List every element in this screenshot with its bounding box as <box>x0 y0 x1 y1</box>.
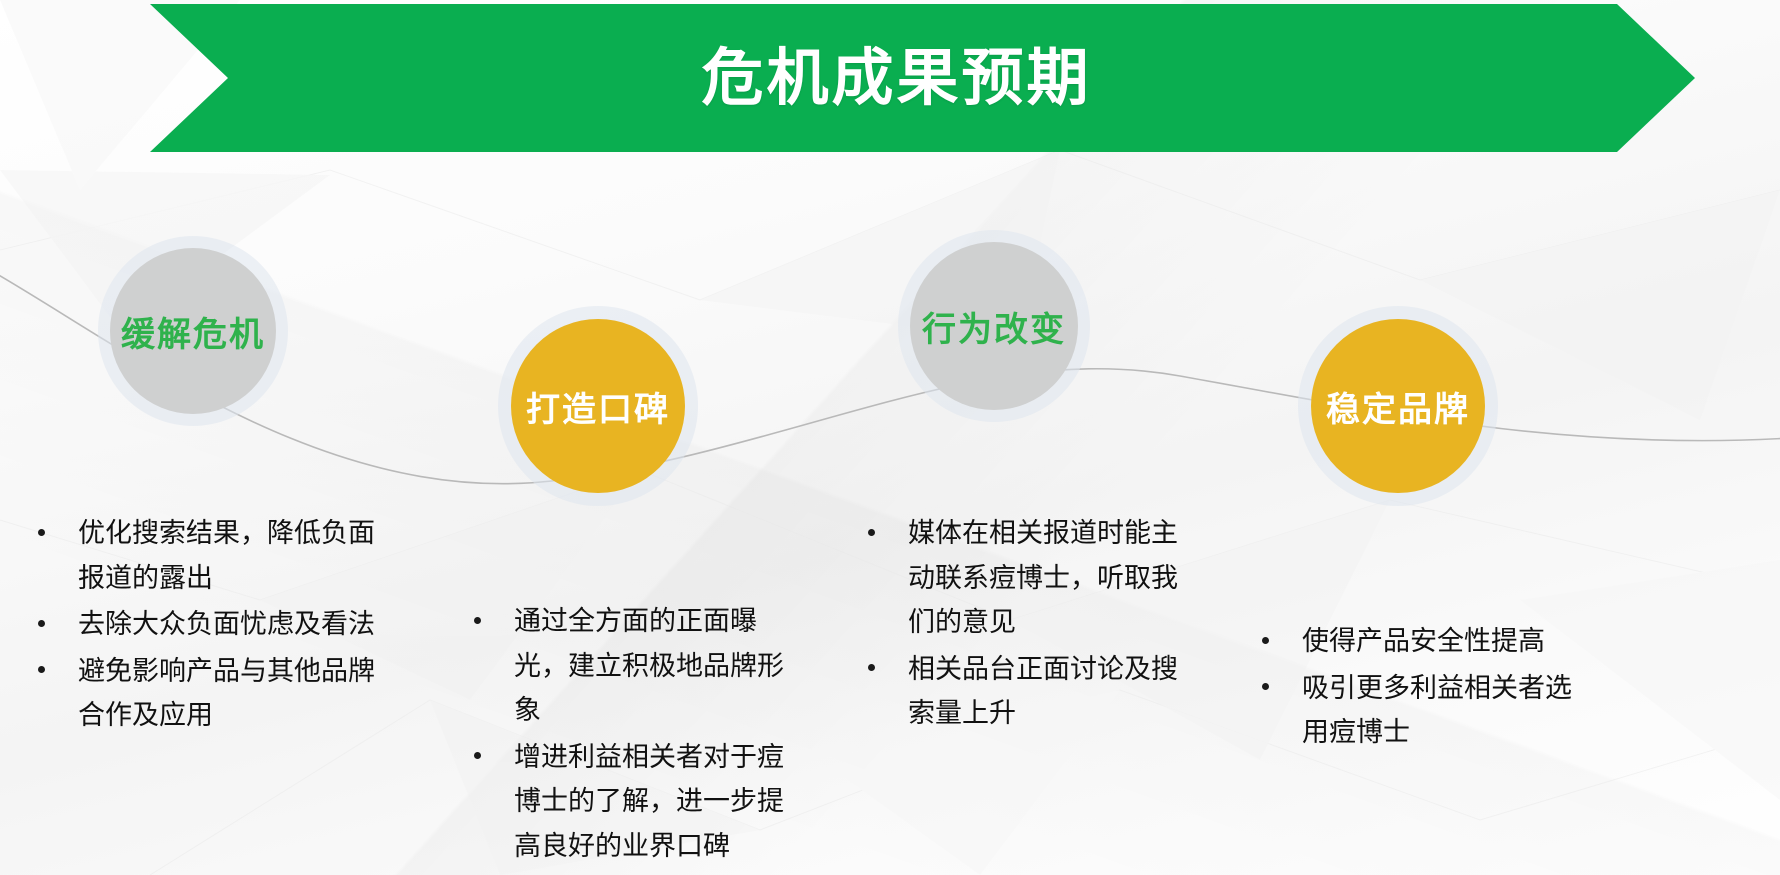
node-2-label: 打造口碑 <box>526 382 670 431</box>
title-banner: 危机成果预期 <box>150 4 1695 152</box>
column-3: 媒体在相关报道时能主动联系痘博士，听取我们的意见 相关品台正面讨论及搜索量上升 <box>852 512 1202 739</box>
bullet-text: 相关品台正面讨论及搜索量上升 <box>908 654 1178 730</box>
column-1: 优化搜索结果，降低负面报道的露出 去除大众负面忧虑及看法 避免影响产品与其他品牌… <box>22 512 382 741</box>
slide-canvas: 危机成果预期 缓解危机 打造口碑 行为改变 稳定品牌 <box>0 0 1780 875</box>
bullet-dot-icon <box>1262 683 1269 690</box>
bullet-dot-icon <box>1262 637 1269 644</box>
bullet-text: 优化搜索结果，降低负面报道的露出 <box>78 518 375 594</box>
column-4: 使得产品安全性提高 吸引更多利益相关者选用痘博士 <box>1246 620 1576 758</box>
column-2-bullets: 通过全方面的正面曝光，建立积极地品牌形象 增进利益相关者对于痘博士的了解，进一步… <box>458 600 798 869</box>
list-item: 优化搜索结果，降低负面报道的露出 <box>22 512 382 601</box>
bullet-dot-icon <box>38 620 45 627</box>
bullet-dot-icon <box>868 529 875 536</box>
list-item: 媒体在相关报道时能主动联系痘博士，听取我们的意见 <box>852 512 1202 646</box>
node-3-label: 行为改变 <box>922 302 1066 351</box>
node-4[interactable]: 稳定品牌 <box>1298 306 1498 506</box>
list-item: 吸引更多利益相关者选用痘博士 <box>1246 667 1576 756</box>
node-4-label: 稳定品牌 <box>1326 382 1470 431</box>
bullet-text: 媒体在相关报道时能主动联系痘博士，听取我们的意见 <box>908 518 1178 638</box>
bullet-text: 通过全方面的正面曝光，建立积极地品牌形象 <box>514 606 784 726</box>
bullet-dot-icon <box>474 617 481 624</box>
bullet-text: 吸引更多利益相关者选用痘博士 <box>1302 673 1572 749</box>
column-4-bullets: 使得产品安全性提高 吸引更多利益相关者选用痘博士 <box>1246 620 1576 756</box>
bullet-text: 增进利益相关者对于痘博士的了解，进一步提高良好的业界口碑 <box>514 742 784 862</box>
column-1-bullets: 优化搜索结果，降低负面报道的露出 去除大众负面忧虑及看法 避免影响产品与其他品牌… <box>22 512 382 739</box>
list-item: 通过全方面的正面曝光，建立积极地品牌形象 <box>458 600 798 734</box>
list-item: 增进利益相关者对于痘博士的了解，进一步提高良好的业界口碑 <box>458 736 798 870</box>
node-1-disc[interactable]: 缓解危机 <box>110 248 276 414</box>
node-2[interactable]: 打造口碑 <box>498 306 698 506</box>
bullet-text: 去除大众负面忧虑及看法 <box>78 609 375 640</box>
bullet-dot-icon <box>868 664 875 671</box>
node-3[interactable]: 行为改变 <box>898 230 1090 422</box>
node-1[interactable]: 缓解危机 <box>98 236 288 426</box>
list-item: 避免影响产品与其他品牌合作及应用 <box>22 650 382 739</box>
node-3-disc[interactable]: 行为改变 <box>910 242 1078 410</box>
page-title: 危机成果预期 <box>701 47 1091 109</box>
bullet-text: 使得产品安全性提高 <box>1302 626 1545 657</box>
bullet-text: 避免影响产品与其他品牌合作及应用 <box>78 656 375 732</box>
list-item: 去除大众负面忧虑及看法 <box>22 603 382 648</box>
list-item: 使得产品安全性提高 <box>1246 620 1576 665</box>
bullet-dot-icon <box>474 752 481 759</box>
bullet-dot-icon <box>38 529 45 536</box>
node-1-label: 缓解危机 <box>121 307 265 356</box>
column-3-bullets: 媒体在相关报道时能主动联系痘博士，听取我们的意见 相关品台正面讨论及搜索量上升 <box>852 512 1202 737</box>
node-4-disc[interactable]: 稳定品牌 <box>1311 319 1485 493</box>
bullet-dot-icon <box>38 666 45 673</box>
list-item: 相关品台正面讨论及搜索量上升 <box>852 648 1202 737</box>
node-2-disc[interactable]: 打造口碑 <box>511 319 685 493</box>
column-2: 通过全方面的正面曝光，建立积极地品牌形象 增进利益相关者对于痘博士的了解，进一步… <box>458 600 798 871</box>
